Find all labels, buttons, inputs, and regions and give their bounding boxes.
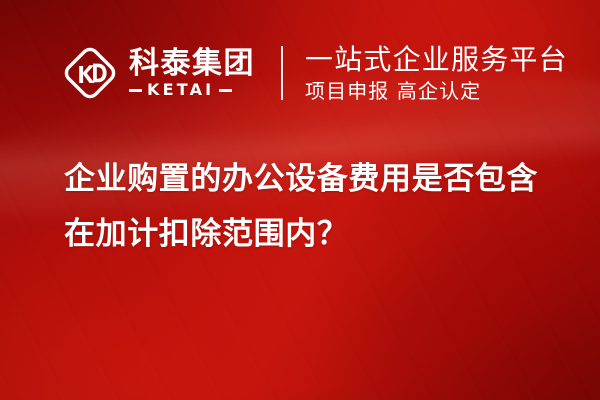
brand-rule-left-icon: [129, 89, 142, 92]
header-divider: [281, 46, 283, 100]
headline-line-1: 企业购置的办公设备费用是否包含: [64, 152, 564, 207]
banner-content: 科泰集团 KETAI 一站式企业服务平台 项目申报 高企认定 企业购置的办公设备…: [0, 0, 600, 400]
banner-header: 科泰集团 KETAI 一站式企业服务平台 项目申报 高企认定: [62, 40, 568, 106]
headline-line-2: 在加计扣除范围内？: [64, 207, 564, 262]
headline-block: 企业购置的办公设备费用是否包含 在加计扣除范围内？: [64, 152, 564, 262]
brand-rule-right-icon: [219, 89, 232, 92]
ketai-diamond-kd-monogram-icon: [62, 45, 118, 101]
brand-name-en-row: KETAI: [129, 82, 255, 99]
brand-slogan: 一站式企业服务平台 项目申报 高企认定: [305, 42, 568, 104]
slogan-sub-text: 项目申报 高企认定: [305, 79, 568, 103]
promo-banner: 科泰集团 KETAI 一站式企业服务平台 项目申报 高企认定 企业购置的办公设备…: [0, 0, 600, 400]
brand-logo-lockup[interactable]: 科泰集团 KETAI: [62, 43, 255, 103]
slogan-main-text: 一站式企业服务平台: [305, 44, 568, 76]
brand-wordmark: 科泰集团 KETAI: [129, 45, 255, 101]
brand-name-cn: 科泰集团: [129, 48, 255, 80]
brand-name-en: KETAI: [147, 82, 214, 98]
